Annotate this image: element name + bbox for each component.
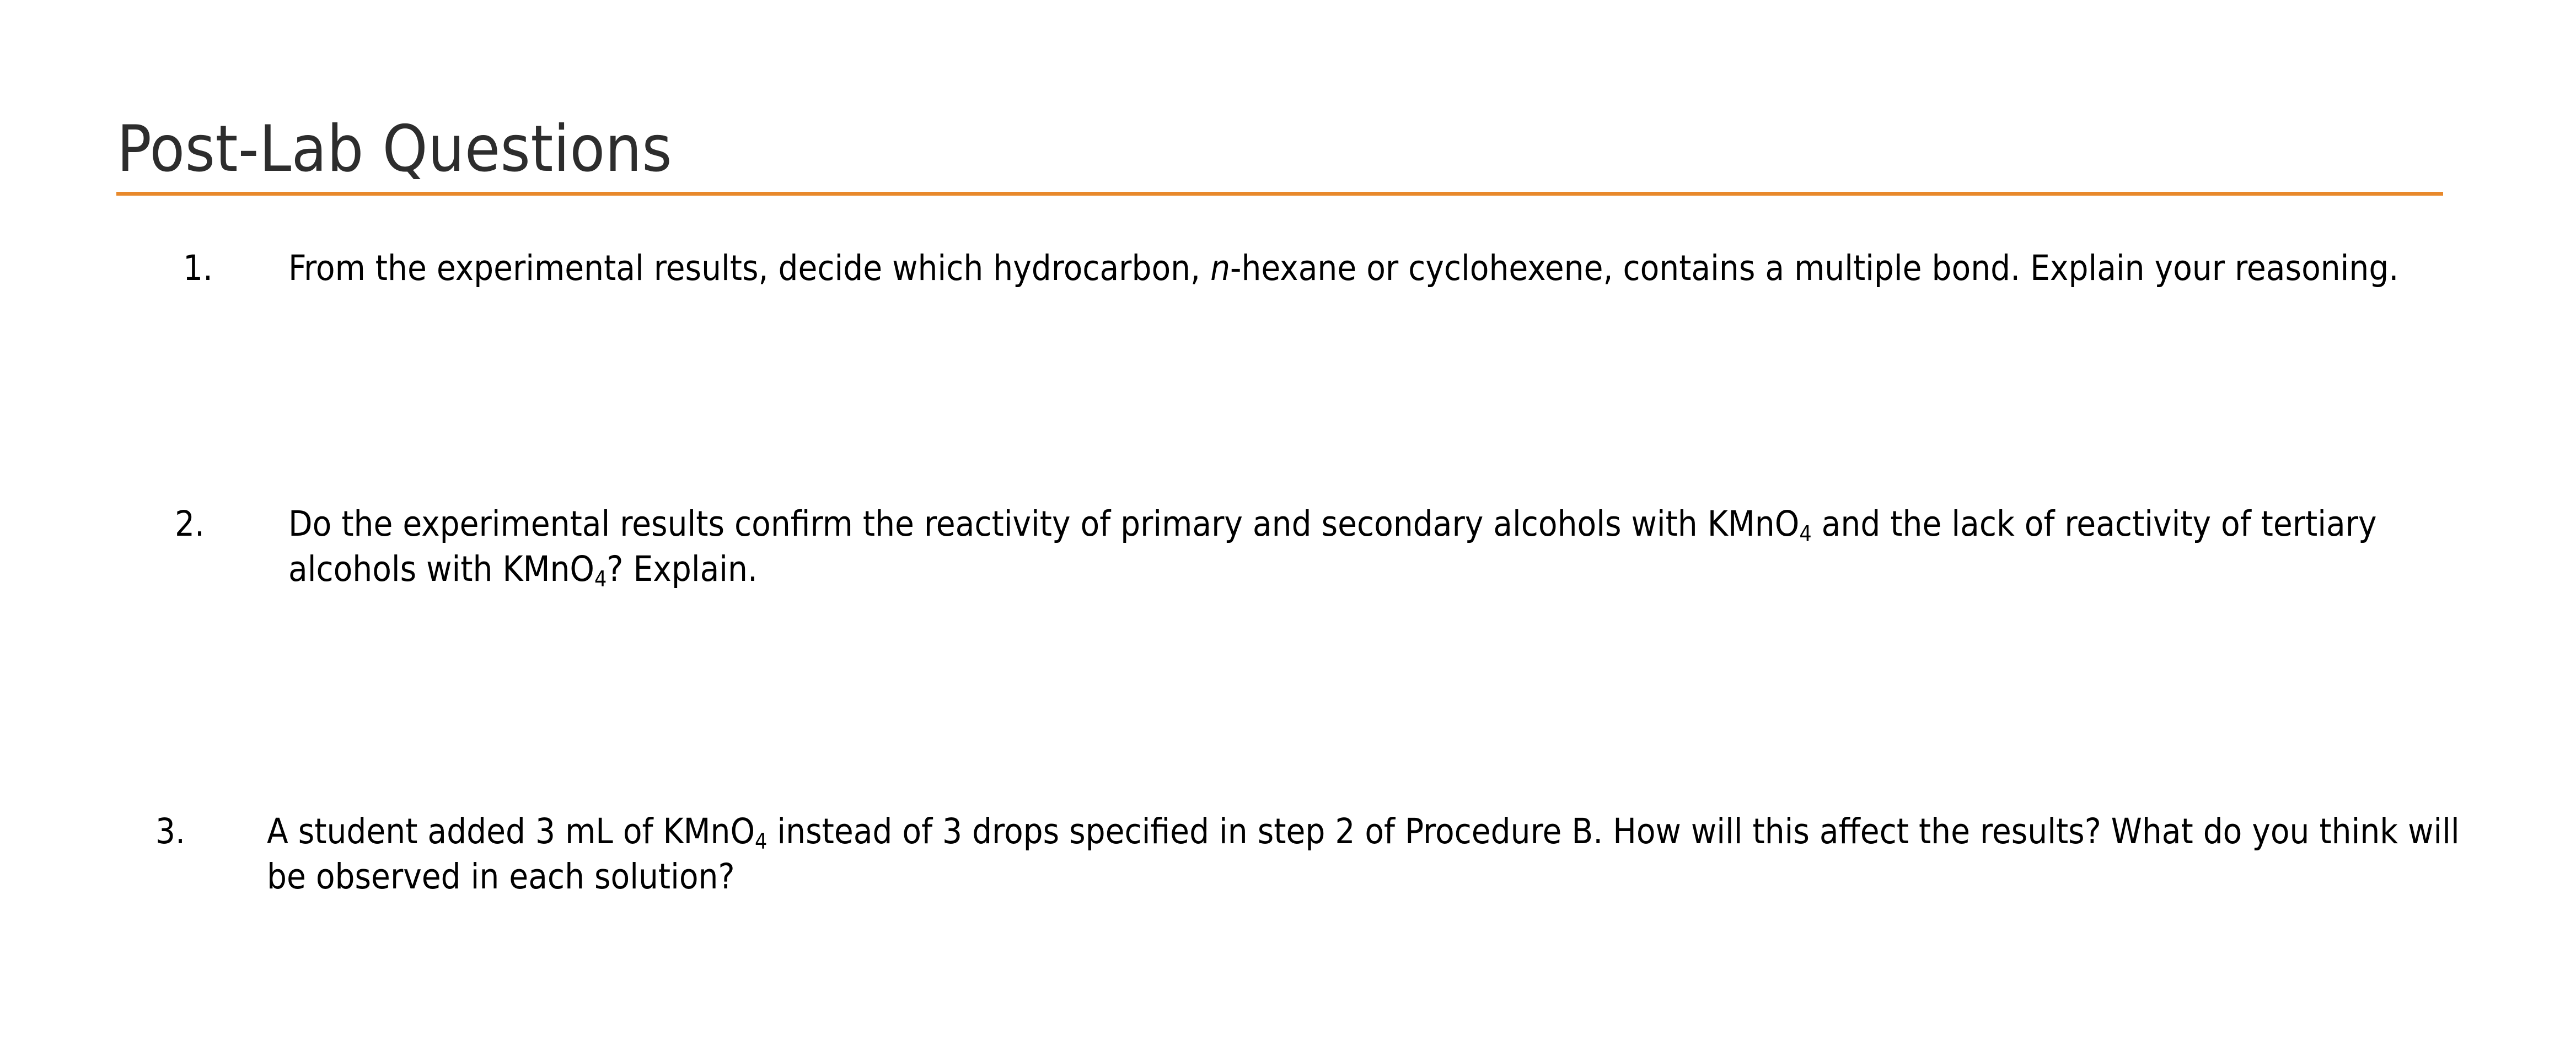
question-number: 3. [55, 809, 185, 854]
question-text: Do the experimental results confirm the … [288, 502, 2486, 592]
slide: Post-Lab Questions 1. From the experimen… [0, 0, 2576, 1051]
question-number: 2. [74, 502, 205, 547]
question-text: From the experimental results, decide wh… [288, 246, 2483, 291]
question-number: 1. [83, 246, 213, 291]
question-list: 1. From the experimental results, decide… [0, 9, 2576, 1051]
question-text: A student added 3 mL of KMnO4 instead of… [267, 809, 2489, 899]
